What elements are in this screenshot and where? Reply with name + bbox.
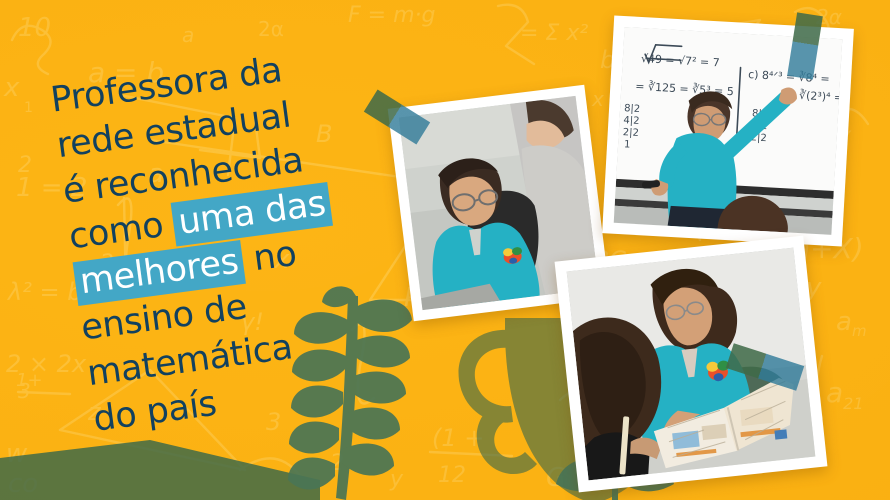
corner-green-shape-ornament <box>0 440 320 500</box>
photo-teacher-with-student-book-image <box>567 248 816 481</box>
photo-teacher-at-whiteboard-image: . √49 = √7² = 7 = ∛125 = ∛5³ = 5 c) 8⁴ᐟ³… <box>614 27 843 235</box>
svg-text:12: 12 <box>438 463 466 488</box>
headline-full-text: Professora da rede estadual é reconhecid… <box>0 0 1 1</box>
photo-2-caption: Professora sorrindo apontando para o qua… <box>0 0 1 1</box>
photo-1-caption: Professora de camiseta azul-turquesa sen… <box>0 0 1 1</box>
svg-text:3: 3 <box>18 379 31 403</box>
svg-text:8|2: 8|2 <box>624 103 641 115</box>
svg-text:1: 1 <box>24 100 33 116</box>
svg-text:y: y <box>389 467 404 492</box>
svg-text:x: x <box>3 73 20 103</box>
svg-text:am: am <box>836 307 867 340</box>
svg-text:a: a <box>182 23 194 47</box>
svg-text:∛(2³)⁴ =: ∛(2³)⁴ = <box>799 88 843 104</box>
svg-text:2 × 2x: 2 × 2x <box>6 350 87 378</box>
headline-line-5-tail: no <box>240 233 299 284</box>
svg-text:2α: 2α <box>258 17 284 41</box>
poster-canvas: 10 x 1 2α a = b a a F = m·g = Σ x² 2α b²… <box>0 0 890 500</box>
svg-text:2|2: 2|2 <box>622 127 639 139</box>
svg-text:(1 +: (1 + <box>432 424 484 452</box>
headline-block: Professora da rede estadual é reconhecid… <box>48 30 454 442</box>
svg-text:1: 1 <box>624 139 631 150</box>
photo-teacher-with-student-book[interactable] <box>555 236 828 493</box>
photo-3-caption: Professora apontando para o livro didáti… <box>0 0 1 1</box>
svg-text:1+: 1+ <box>16 370 43 391</box>
svg-text:2: 2 <box>18 153 32 178</box>
svg-text:4|2: 4|2 <box>623 115 640 127</box>
svg-text:2: 2 <box>330 451 344 476</box>
svg-text:F = m·g: F = m·g <box>348 3 435 28</box>
svg-text:co: co <box>8 469 38 499</box>
svg-text:= Σ x²: = Σ x² <box>520 21 588 46</box>
photo-teacher-at-whiteboard[interactable]: . √49 = √7² = 7 = ∛125 = ∛5³ = 5 c) 8⁴ᐟ³… <box>602 15 854 246</box>
svg-text:w: w <box>6 439 28 469</box>
svg-text:10: 10 <box>18 13 51 43</box>
svg-text:a21: a21 <box>826 376 864 413</box>
svg-text:2α: 2α <box>816 5 842 29</box>
